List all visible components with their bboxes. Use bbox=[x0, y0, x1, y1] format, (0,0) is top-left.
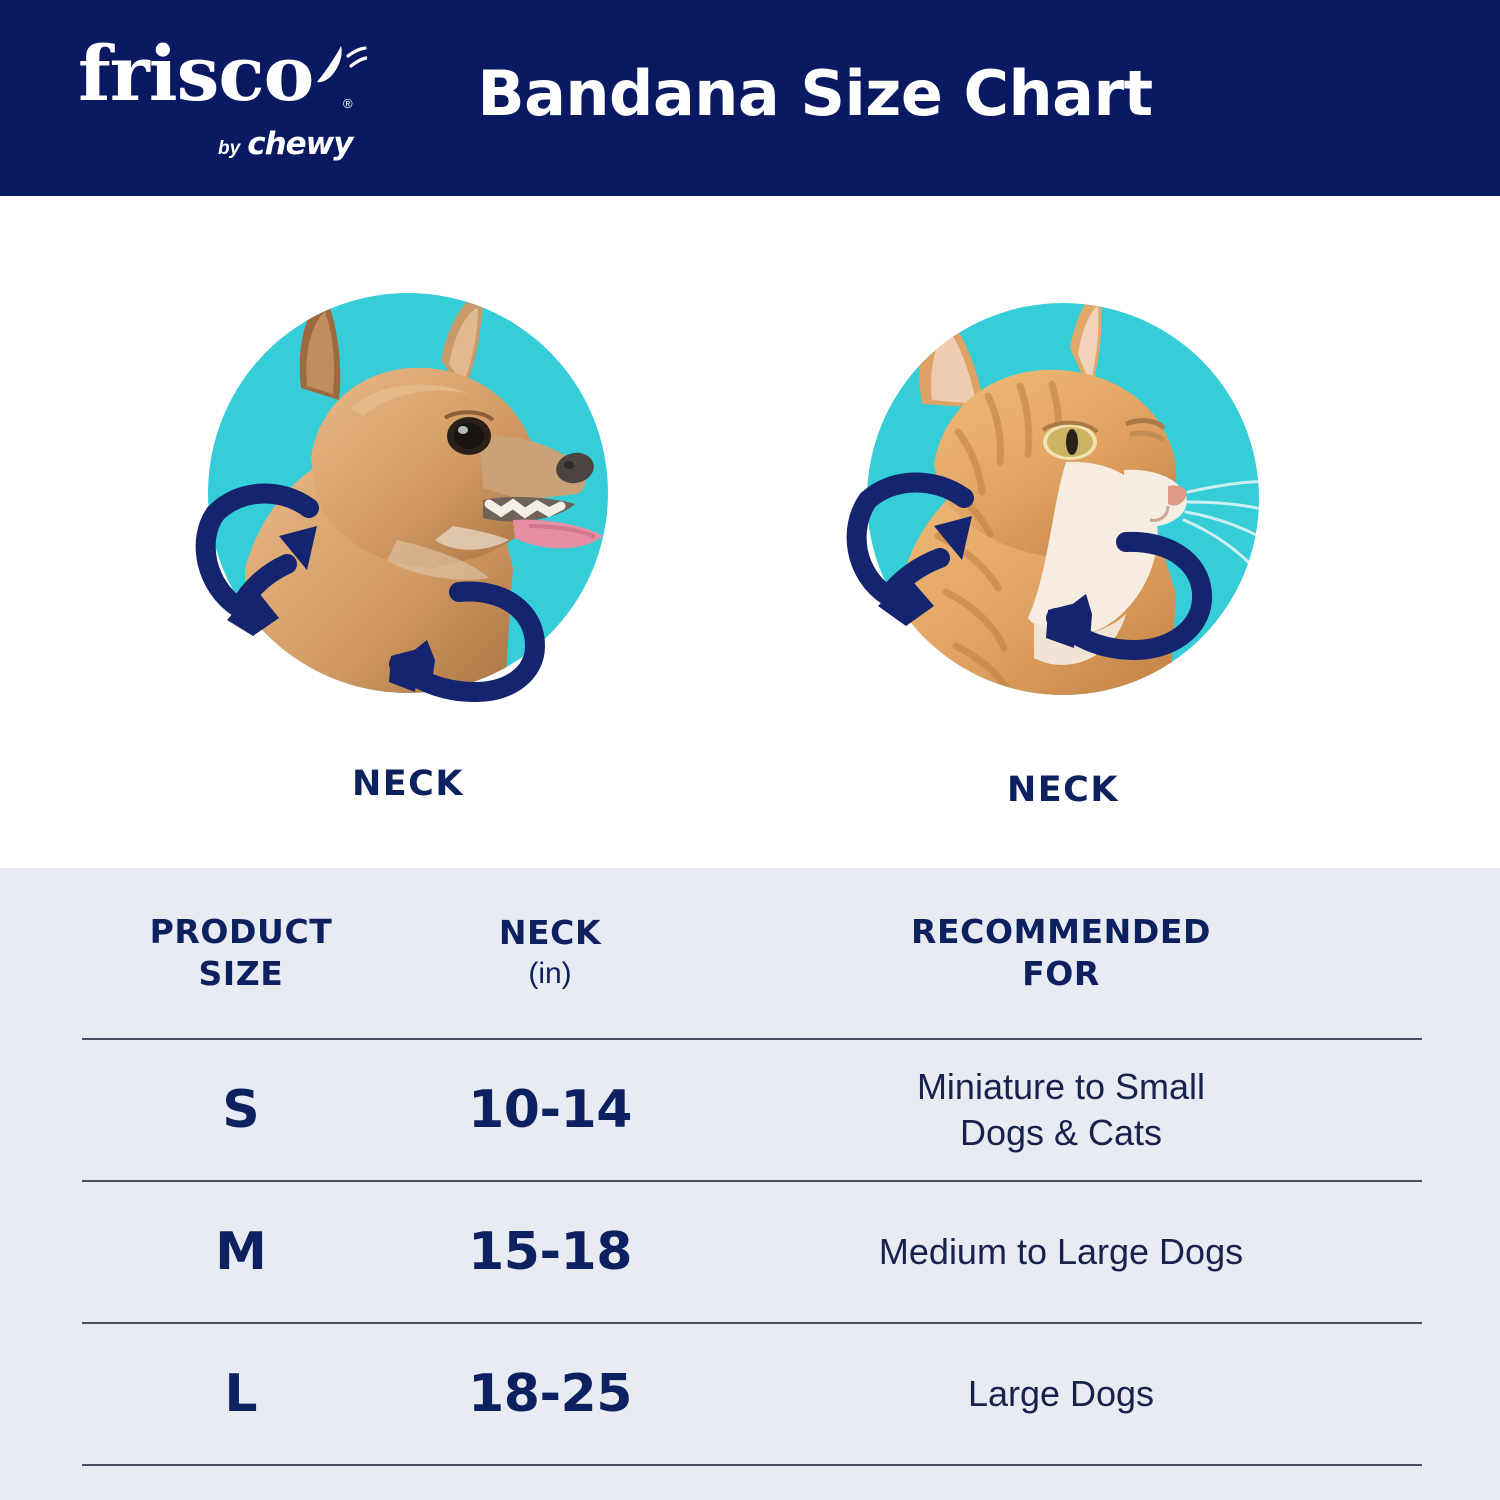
table-row: S 10-14 Miniature to Small Dogs & Cats bbox=[82, 1038, 1422, 1180]
header-bar: frisco ® by chewy Bandana Size Chart bbox=[0, 0, 1500, 196]
table-row: M 15-18 Medium to Large Dogs bbox=[82, 1180, 1422, 1322]
cell-neck: 10-14 bbox=[400, 1080, 700, 1140]
cell-size: S bbox=[82, 1080, 400, 1140]
chewy-wordmark: chewy bbox=[247, 126, 352, 162]
cat-measurement-figure: NECK bbox=[838, 274, 1338, 834]
page-title: Bandana Size Chart bbox=[0, 58, 1500, 130]
cell-size: L bbox=[82, 1364, 400, 1424]
table-header-row: PRODUCT SIZE NECK (in) RECOMMENDED FOR bbox=[82, 868, 1422, 1038]
brand-parent-lockup: by chewy bbox=[218, 126, 353, 162]
dog-neck-label: NECK bbox=[183, 764, 633, 804]
cell-recommended: Miniature to Small Dogs & Cats bbox=[700, 1064, 1422, 1156]
cell-recommended: Large Dogs bbox=[700, 1371, 1422, 1417]
dog-measurement-figure: NECK bbox=[183, 268, 683, 828]
table-bottom-rule bbox=[82, 1464, 1422, 1466]
cell-neck: 15-18 bbox=[400, 1222, 700, 1282]
header-neck: NECK (in) bbox=[400, 912, 700, 994]
size-table-section: PRODUCT SIZE NECK (in) RECOMMENDED FOR S… bbox=[0, 868, 1500, 1500]
size-chart-page: frisco ® by chewy Bandana Size Chart bbox=[0, 0, 1500, 1500]
table-row: L 18-25 Large Dogs bbox=[82, 1322, 1422, 1464]
dog-illustration bbox=[183, 268, 633, 718]
cell-neck: 18-25 bbox=[400, 1364, 700, 1424]
size-table: PRODUCT SIZE NECK (in) RECOMMENDED FOR S… bbox=[82, 868, 1422, 1466]
cat-neck-label: NECK bbox=[838, 770, 1288, 810]
brand-by-label: by bbox=[218, 138, 240, 160]
cell-recommended: Medium to Large Dogs bbox=[700, 1229, 1422, 1275]
header-product-size: PRODUCT SIZE bbox=[82, 911, 400, 995]
cat-illustration bbox=[838, 274, 1288, 724]
illustration-band: NECK bbox=[0, 196, 1500, 868]
header-recommended-for: RECOMMENDED FOR bbox=[700, 911, 1422, 995]
cell-size: M bbox=[82, 1222, 400, 1282]
